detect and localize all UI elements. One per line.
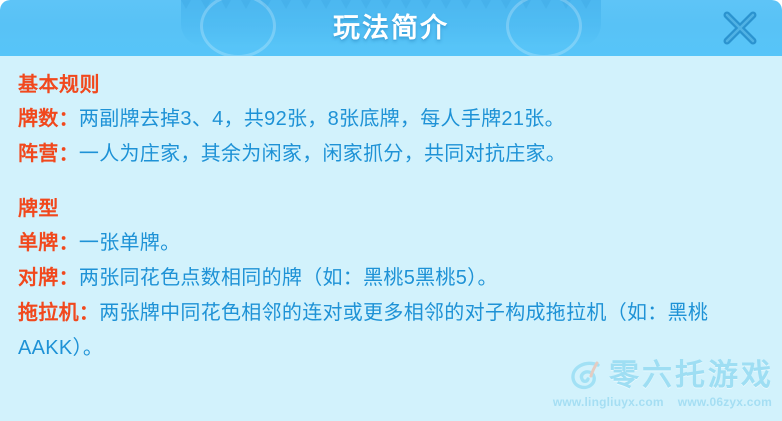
rule-row-camps: 阵营：一人为庄家，其余为闲家，闲家抓分，共同对抗庄家。 bbox=[18, 137, 766, 172]
close-button[interactable] bbox=[716, 4, 764, 52]
rule-text-camps: 一人为庄家，其余为闲家，闲家抓分，共同对抗庄家。 bbox=[79, 143, 566, 165]
rule-row-single-card: 单牌：一张单牌。 bbox=[18, 226, 766, 261]
rule-row-card-count: 牌数：两副牌去掉3、4，共92张，8张底牌，每人手牌21张。 bbox=[18, 102, 766, 137]
rule-text-single-card: 一张单牌。 bbox=[79, 232, 181, 254]
dialog-header: 玩法简介 bbox=[0, 0, 782, 56]
rule-label-pair-card: 对牌： bbox=[18, 267, 79, 289]
section-heading-basic-rules: 基本规则 bbox=[18, 70, 766, 100]
section-spacer bbox=[16, 172, 766, 194]
site-watermark: 零六托游戏 www.lingliuyx.com www.06zyx.com bbox=[530, 357, 774, 417]
close-icon bbox=[716, 4, 764, 52]
section-heading-card-types: 牌型 bbox=[18, 194, 766, 224]
watermark-url-primary: www.lingliuyx.com bbox=[553, 395, 664, 409]
page-title: 玩法简介 bbox=[0, 0, 782, 56]
rule-text-pair-card: 两张同花色点数相同的牌（如：黑桃5黑桃5）。 bbox=[79, 267, 498, 289]
watermark-urls: www.lingliuyx.com www.06zyx.com bbox=[530, 395, 774, 409]
rule-text-card-count: 两副牌去掉3、4，共92张，8张底牌，每人手牌21张。 bbox=[79, 108, 565, 130]
rule-label-tractor: 拖拉机： bbox=[18, 302, 99, 324]
dialog-content: 基本规则 牌数：两副牌去掉3、4，共92张，8张底牌，每人手牌21张。 阵营：一… bbox=[0, 56, 782, 421]
rule-text-tractor: 两张牌中同花色相邻的连对或更多相邻的对子构成拖拉机（如：黑桃AAKK）。 bbox=[18, 302, 708, 359]
rule-label-card-count: 牌数： bbox=[18, 108, 79, 130]
rule-label-single-card: 单牌： bbox=[18, 232, 79, 254]
rule-label-camps: 阵营： bbox=[18, 143, 79, 165]
watermark-url-secondary: www.06zyx.com bbox=[678, 395, 772, 409]
rule-row-tractor: 拖拉机：两张牌中同花色相邻的连对或更多相邻的对子构成拖拉机（如：黑桃AAKK）。 bbox=[18, 296, 766, 366]
rule-row-pair-card: 对牌：两张同花色点数相同的牌（如：黑桃5黑桃5）。 bbox=[18, 261, 766, 296]
game-rules-dialog: 玩法简介 基本规则 牌数：两副牌去掉3、4，共92张，8张底牌，每人手牌21张。… bbox=[0, 0, 782, 421]
